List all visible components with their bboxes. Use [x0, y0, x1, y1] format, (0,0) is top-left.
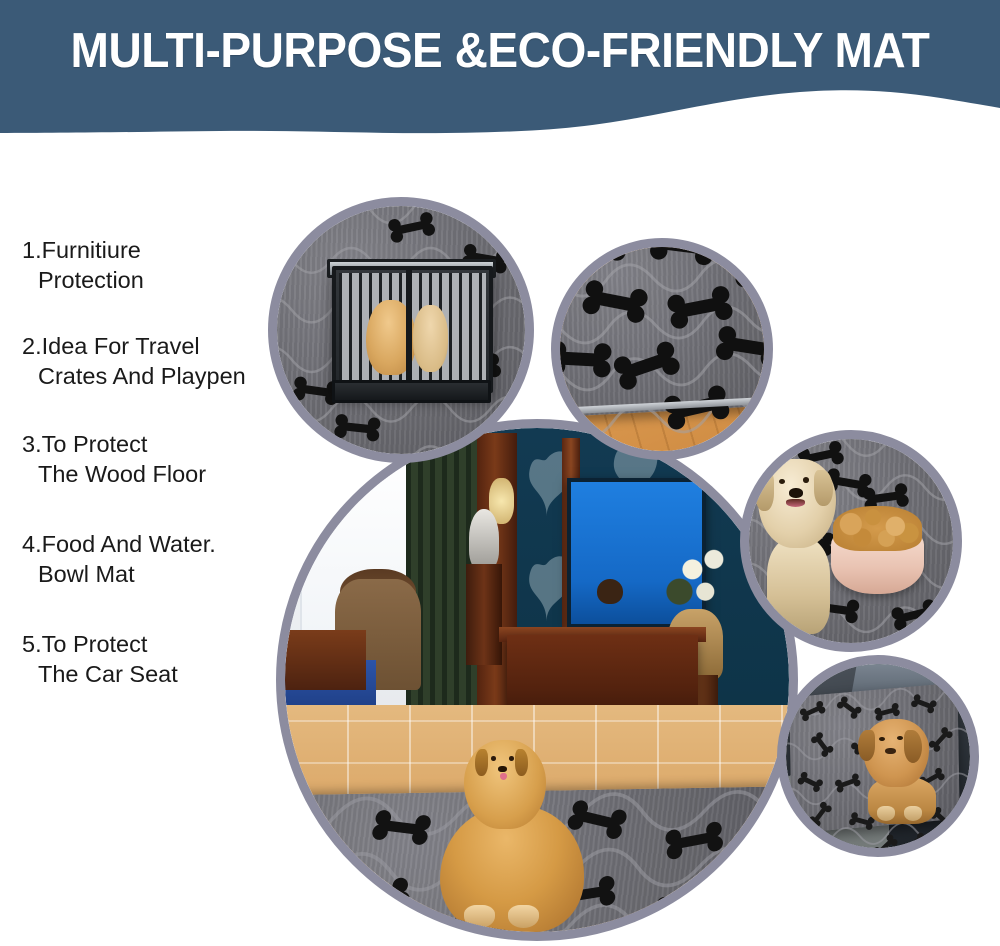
- feature-3-line-1: 3.To Protect: [22, 429, 288, 459]
- dog-eye-right: [803, 477, 809, 482]
- car-interior: [786, 664, 970, 848]
- feature-5-line-2: The Car Seat: [38, 659, 288, 689]
- feature-1-line-2: Protection: [38, 265, 288, 295]
- crate-door-divider: [406, 270, 412, 379]
- feature-5-line-1: 5.To Protect: [22, 629, 288, 659]
- puppy-ear-left: [858, 730, 875, 761]
- pet-mat-corner: [560, 247, 764, 417]
- feature-1-line-1: 1.Furnitiure: [22, 235, 288, 265]
- feature-item-5: 5.To Protect The Car Seat: [20, 629, 288, 689]
- golden-retriever-head: [753, 459, 843, 630]
- feature-item-1: 1.Furnitiure Protection: [20, 235, 288, 295]
- photo-car-seat: [777, 655, 979, 857]
- dog-tongue: [500, 773, 507, 780]
- golden-retriever-dog: [426, 740, 597, 932]
- dog-nose: [498, 766, 506, 772]
- living-room-coffee-table: [285, 630, 366, 690]
- dog-mouth: [786, 499, 805, 507]
- puppy: [860, 719, 945, 822]
- feature-2-line-1: 2.Idea For Travel: [22, 331, 288, 361]
- crate-base-tray: [332, 380, 492, 403]
- dog-ear-left: [475, 749, 488, 775]
- bone-print-pattern: [560, 247, 764, 447]
- kibble-food: [833, 506, 923, 551]
- living-room-bust-statue: [469, 509, 499, 569]
- photo-food-bowl: [740, 430, 962, 652]
- puppy-eye-right: [897, 736, 903, 740]
- dog-eye-left: [779, 479, 785, 484]
- header-banner: MULTI-PURPOSE &ECO-FRIENDLY MAT: [0, 0, 1000, 150]
- dog-ear-right: [515, 749, 528, 775]
- photo-crate: [268, 197, 534, 463]
- feature-2-line-2: Crates And Playpen: [38, 361, 288, 391]
- feature-4-line-2: Bowl Mat: [38, 559, 288, 589]
- feature-item-4: 4.Food And Water. Bowl Mat: [20, 529, 288, 589]
- puppy-ear-right: [904, 730, 922, 763]
- dog-head: [464, 740, 546, 828]
- feature-list: 1.Furnitiure Protection 2.Idea For Trave…: [20, 235, 288, 689]
- infographic-page: MULTI-PURPOSE &ECO-FRIENDLY MAT 1.Furnit…: [0, 0, 1000, 946]
- crate-mat-background: [277, 206, 525, 454]
- feature-3-line-2: The Wood Floor: [38, 459, 288, 489]
- bowl-mat-background: [749, 439, 953, 643]
- dog-nose: [789, 488, 803, 498]
- dog-head: [758, 459, 835, 548]
- photo-wood-floor: [551, 238, 773, 460]
- puppy-eye-left: [879, 737, 885, 741]
- puppy-nose: [885, 748, 896, 754]
- feature-item-3: 3.To Protect The Wood Floor: [20, 429, 288, 489]
- dog-eye-left: [491, 756, 496, 760]
- feature-4-line-1: 4.Food And Water.: [22, 529, 288, 559]
- puppy-head: [863, 719, 929, 787]
- living-room-pedestal: [466, 564, 501, 665]
- television-reflection: [597, 579, 622, 604]
- feature-item-2: 2.Idea For Travel Crates And Playpen: [20, 331, 288, 391]
- crate-dog-rear: [413, 305, 448, 372]
- dog-paw-left: [464, 905, 495, 928]
- dog-eye-right: [509, 756, 514, 760]
- dog-ear-left: [755, 472, 774, 511]
- dog-chest: [767, 538, 830, 634]
- page-title: MULTI-PURPOSE &ECO-FRIENDLY MAT: [30, 22, 970, 80]
- dog-ear-right: [814, 470, 833, 506]
- photo-living-room: [276, 419, 798, 941]
